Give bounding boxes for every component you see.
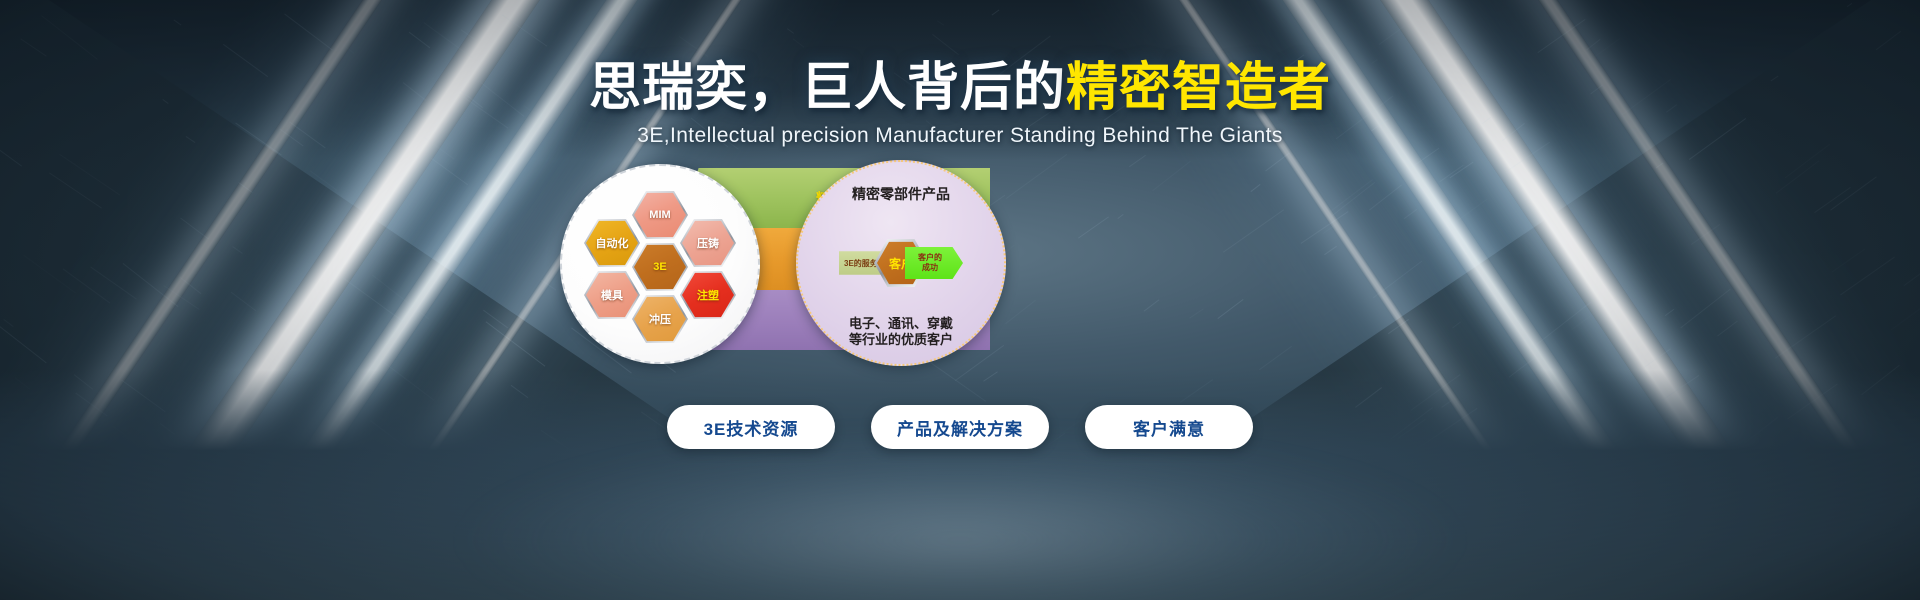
page-title-white: 思瑞奕，巨人背后的 [589,59,1066,117]
success-arrow-label-line1: 客户的 [918,253,942,263]
hero-banner: 思瑞奕，巨人背后的精密智造者 3E,Intellectual precision… [0,0,1920,600]
customer-circle-title: 精密零部件产品 [798,184,1004,204]
customer-industries-line1: 电子、通讯、穿戴 [798,316,1004,332]
capability-diagram: 精密组件 MIM 连接器 MIM 自动化 压铸 3E [560,168,1020,358]
success-arrow: 客户的 成功 [905,247,963,279]
customer-industries-line2: 等行业的优质客户 [798,332,1004,348]
cta-button-row: 3E技术资源 产品及解决方案 客户满意 [0,405,1920,449]
page-subtitle: 3E,Intellectual precision Manufacturer S… [0,124,1920,148]
button-customer-satisfaction[interactable]: 客户满意 [1085,405,1253,449]
customer-industries-text: 电子、通讯、穿戴 等行业的优质客户 [798,316,1004,349]
hexagon-diecasting: 压铸 [680,218,736,268]
page-title-highlight: 精密智造者 [1066,59,1331,117]
button-products-solutions[interactable]: 产品及解决方案 [871,405,1049,449]
service-arrow-label: 3E的服务 [844,258,878,269]
page-title: 思瑞奕，巨人背后的精密智造者 [0,62,1920,114]
customer-circle: 精密零部件产品 3E的服务 客户 客户的 成功 电子、通讯、穿戴 [796,160,1006,366]
capability-circle: MIM 自动化 压铸 3E 模具 注塑 [560,164,760,364]
hexagon-stamping: 冲压 [632,294,688,344]
customer-flow-row: 3E的服务 客户 客户的 成功 [798,240,1004,286]
button-tech-resources[interactable]: 3E技术资源 [667,405,835,449]
hexagon-injection: 注塑 [680,270,736,320]
success-arrow-label-line2: 成功 [918,263,942,273]
